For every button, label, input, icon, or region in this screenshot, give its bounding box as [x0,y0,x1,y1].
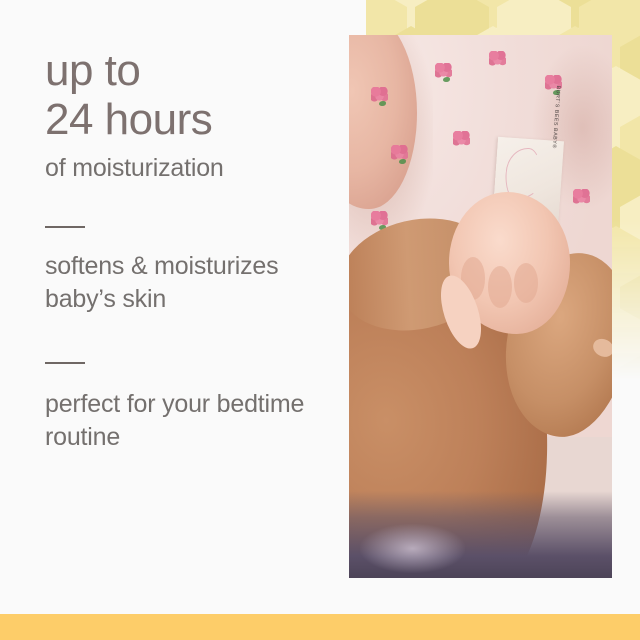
baby-hand-photo: BURT’S BEES BABY® 🐝 [349,35,612,578]
floral-motif [371,211,388,226]
benefit-text-2: perfect for your bedtime routine [45,388,335,454]
floral-motif [435,63,452,78]
floral-motif [573,189,590,204]
baby-knuckle [488,266,512,308]
benefit-copy-block: up to 24 hours of moisturization softens… [45,46,335,454]
baby-knuckle [514,263,538,303]
fingernail [590,336,612,360]
floral-motif [453,131,470,146]
floral-motif [391,145,408,160]
subheadline: of moisturization [45,152,335,184]
lap-highlight [360,524,465,573]
divider-rule-2 [45,362,85,364]
headline-line-1: up to [45,46,335,95]
divider-rule-1 [45,226,85,228]
bottom-accent-bar [0,614,640,640]
floral-motif [371,87,388,102]
benefit-text-1: softens & moisturizes baby’s skin [45,250,335,316]
product-benefit-graphic: BURT’S BEES BABY® 🐝 up to 24 hours of mo… [0,0,640,640]
headline-line-2: 24 hours [45,95,335,144]
floral-motif [489,51,506,66]
